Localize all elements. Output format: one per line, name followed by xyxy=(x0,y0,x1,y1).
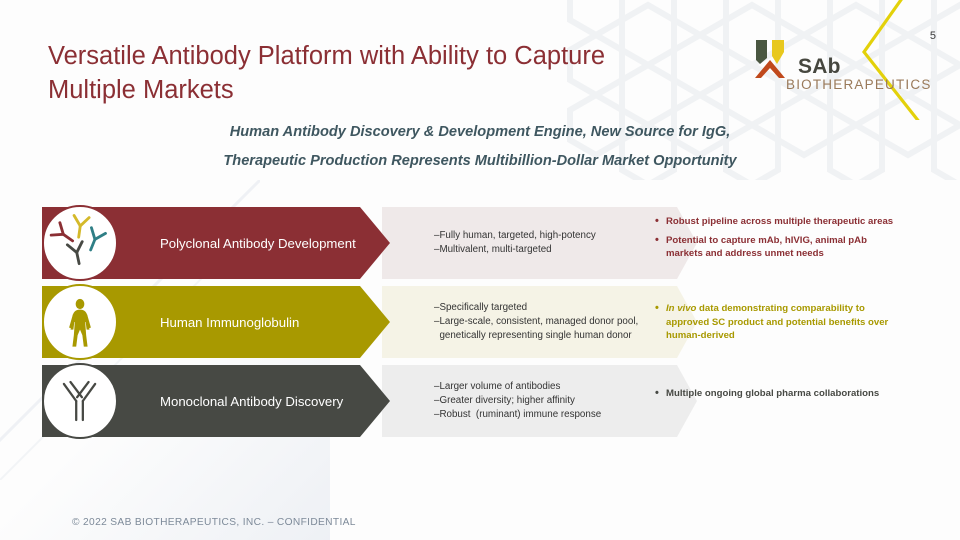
detail-panel-2: –Specifically targeted –Large-scale, con… xyxy=(382,286,697,358)
logo-tagline: BIOTHERAPEUTICS xyxy=(786,77,932,92)
sab-logo: SAb BIOTHERAPEUTICS xyxy=(722,38,892,100)
logo-wordmark: SAb xyxy=(798,55,841,79)
bullet-rest: data demonstrating comparability to appr… xyxy=(666,303,888,341)
stage-label-1: Polyclonal Antibody Development xyxy=(160,207,356,279)
subtitle-line-2: Therapeutic Production Represents Multib… xyxy=(60,147,900,176)
human-figure-icon xyxy=(42,284,118,360)
detail-text-2: –Specifically targeted –Large-scale, con… xyxy=(434,286,679,358)
bullet-item: Potential to capture mAb, hIVIG, animal … xyxy=(655,234,905,261)
page-subtitle: Human Antibody Discovery & Development E… xyxy=(60,118,900,176)
detail-line: –Greater diversity; higher affinity xyxy=(434,394,679,408)
single-antibody-icon xyxy=(42,363,118,439)
bullets-immunoglobulin: In vivo data demonstrating comparability… xyxy=(655,302,905,348)
detail-line: –Fully human, targeted, high-potency xyxy=(434,229,679,243)
page-title: Versatile Antibody Platform with Ability… xyxy=(48,40,648,108)
multi-antibody-icon xyxy=(42,205,118,281)
detail-panel-3: –Larger volume of antibodies –Greater di… xyxy=(382,365,697,437)
detail-text-1: –Fully human, targeted, high-potency –Mu… xyxy=(434,207,679,279)
footer-copyright: © 2022 SAB BIOTHERAPEUTICS, INC. – CONFI… xyxy=(72,517,356,528)
detail-panel-1: –Fully human, targeted, high-potency –Mu… xyxy=(382,207,697,279)
bullet-item: Robust pipeline across multiple therapeu… xyxy=(655,215,905,229)
page-number: 5 xyxy=(930,30,936,42)
bullets-monoclonal: Multiple ongoing global pharma collabora… xyxy=(655,387,905,406)
detail-line: –Robust (ruminant) immune response xyxy=(434,408,679,422)
detail-text-3: –Larger volume of antibodies –Greater di… xyxy=(434,365,679,437)
bullet-item: In vivo data demonstrating comparability… xyxy=(655,302,905,343)
bullets-polyclonal: Robust pipeline across multiple therapeu… xyxy=(655,215,905,266)
stage-label-3: Monoclonal Antibody Discovery xyxy=(160,365,343,437)
bullet-item: Multiple ongoing global pharma collabora… xyxy=(655,387,905,401)
detail-line: –Larger volume of antibodies xyxy=(434,380,679,394)
detail-line: –Specifically targeted xyxy=(434,301,679,315)
subtitle-line-1: Human Antibody Discovery & Development E… xyxy=(60,118,900,147)
bullet-emphasis: In vivo xyxy=(666,303,696,314)
detail-line: –Large-scale, consistent, managed donor … xyxy=(434,315,679,329)
stage-label-2: Human Immunoglobulin xyxy=(160,286,299,358)
slide-canvas: 5 SAb BIOTHERAPEUTICS Versatile Antibody… xyxy=(0,0,960,540)
detail-line: genetically representing single human do… xyxy=(434,329,679,343)
detail-line: –Multivalent, multi-targeted xyxy=(434,243,679,257)
